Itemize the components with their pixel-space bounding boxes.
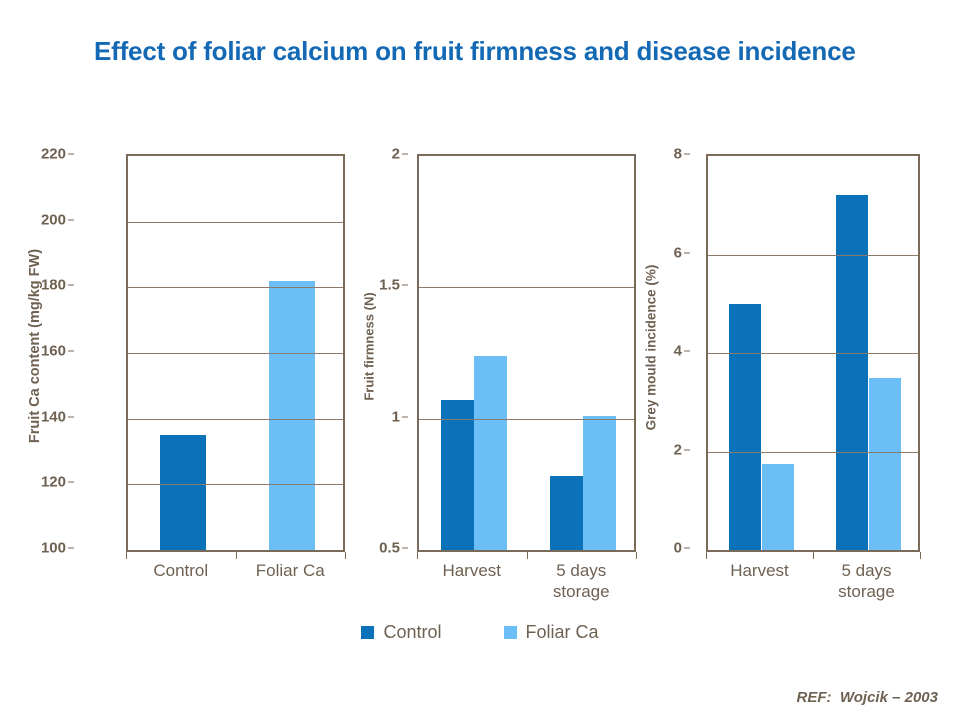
y-tick-label: 160 [41, 343, 66, 360]
legend-item-control: Control [361, 622, 441, 643]
bar [269, 281, 315, 550]
x-tick-mark [236, 552, 237, 559]
y-tick-mark [402, 154, 408, 155]
plot-area-chart2 [417, 154, 636, 552]
legend-item-foliar-ca: Foliar Ca [504, 622, 599, 643]
x-tick-mark [345, 552, 346, 559]
gridline [128, 287, 343, 288]
y-tick-mark [68, 548, 74, 549]
y-tick-label: 2 [392, 146, 400, 163]
plot-area-chart3 [706, 154, 920, 552]
gridline [708, 255, 918, 256]
y-tick-mark [68, 219, 74, 220]
bar [583, 416, 616, 550]
gridline [419, 287, 634, 288]
y-tick-label: 6 [674, 244, 682, 261]
y-tick-label: 100 [41, 540, 66, 557]
y-tick-label: 180 [41, 277, 66, 294]
reference-citation: REF: Wojcik – 2003 [797, 689, 938, 706]
y-tick-label: 4 [674, 343, 682, 360]
legend-swatch-control-icon [361, 626, 374, 639]
x-axis-labels-chart1: ControlFoliar Ca [126, 552, 346, 608]
gridline [128, 353, 343, 354]
bar [160, 435, 206, 550]
x-axis-labels-chart2: Harvest5 days storage [417, 552, 637, 608]
x-category-label: 5 days storage [527, 560, 637, 603]
y-tick-mark [402, 416, 408, 417]
gridline [128, 222, 343, 223]
y-tick-mark [68, 482, 74, 483]
y-tick-mark [684, 351, 690, 352]
y-tick-mark [68, 416, 74, 417]
y-tick-label: 140 [41, 408, 66, 425]
y-axis-ticks-chart2: 0.511.52 [356, 140, 408, 550]
x-tick-mark [527, 552, 528, 559]
x-tick-mark [813, 552, 814, 559]
legend-label-foliar-ca: Foliar Ca [526, 622, 599, 643]
bar [474, 356, 507, 550]
x-tick-mark [920, 552, 921, 559]
x-tick-mark [417, 552, 418, 559]
bar [836, 195, 868, 550]
bar [441, 400, 474, 550]
chart-fruit-firmness: Fruit firmness (N) 0.511.52 Harvest5 day… [356, 140, 656, 610]
y-tick-label: 1.5 [379, 277, 400, 294]
y-tick-label: 8 [674, 146, 682, 163]
y-tick-label: 200 [41, 211, 66, 228]
y-tick-label: 2 [674, 441, 682, 458]
chart-grey-mould-incidence: Grey mould incidence (%) 02468 Harvest5 … [638, 140, 938, 610]
bar [729, 304, 761, 550]
y-axis-ticks-chart3: 02468 [638, 140, 690, 550]
y-tick-mark [402, 548, 408, 549]
y-tick-mark [68, 154, 74, 155]
bar [869, 378, 901, 550]
y-tick-label: 0.5 [379, 540, 400, 557]
y-tick-mark [684, 252, 690, 253]
gridline [419, 419, 634, 420]
x-category-label: Foliar Ca [236, 560, 346, 581]
y-tick-label: 0 [674, 540, 682, 557]
bar [762, 464, 794, 550]
x-category-label: Harvest [417, 560, 527, 581]
x-tick-mark [126, 552, 127, 559]
page-title: Effect of foliar calcium on fruit firmne… [94, 34, 914, 68]
gridline [128, 484, 343, 485]
chart-legend: Control Foliar Ca [0, 622, 960, 643]
x-category-label: 5 days storage [813, 560, 920, 603]
bars-chart2 [419, 156, 634, 550]
y-tick-mark [402, 285, 408, 286]
chart-fruit-ca-content: Fruit Ca content (mg/kg FW) 100120140160… [22, 140, 352, 610]
bar [550, 476, 583, 550]
y-tick-mark [684, 154, 690, 155]
y-tick-label: 220 [41, 146, 66, 163]
legend-label-control: Control [383, 622, 441, 643]
plot-area-chart1 [126, 154, 345, 552]
legend-swatch-foliar-ca-icon [504, 626, 517, 639]
x-tick-mark [706, 552, 707, 559]
gridline [708, 353, 918, 354]
x-tick-mark [636, 552, 637, 559]
y-tick-mark [684, 548, 690, 549]
x-category-label: Harvest [706, 560, 813, 581]
gridline [128, 419, 343, 420]
y-tick-mark [684, 449, 690, 450]
y-tick-label: 120 [41, 474, 66, 491]
y-tick-label: 1 [392, 408, 400, 425]
y-tick-mark [68, 351, 74, 352]
gridline [708, 452, 918, 453]
y-axis-ticks-chart1: 100120140160180200220 [22, 140, 74, 550]
x-axis-labels-chart3: Harvest5 days storage [706, 552, 921, 608]
y-tick-mark [68, 285, 74, 286]
x-category-label: Control [126, 560, 236, 581]
